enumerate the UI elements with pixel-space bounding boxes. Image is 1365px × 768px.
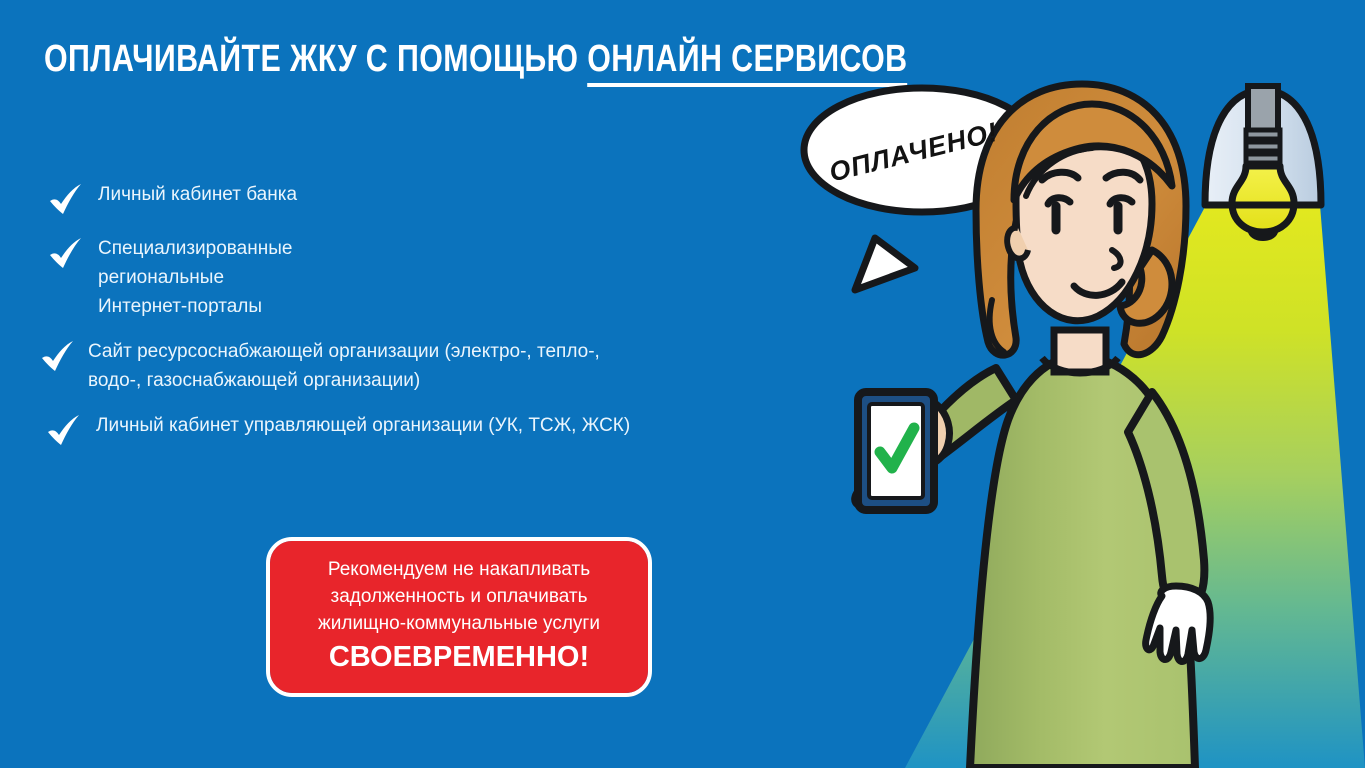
recommendation-callout: Рекомендуем не накапливать задолженность… [266,537,652,697]
check-icon [46,236,86,272]
list-item: Специализированные региональные Интернет… [46,234,796,321]
smartphone [858,392,934,510]
list-item-label: Личный кабинет банка [86,180,297,209]
callout-line: Рекомендуем не накапливать [328,556,590,583]
poster-canvas: ОПЛАЧИВАЙТЕ ЖКУ С ПОМОЩЬЮ ОНЛАЙН СЕРВИСО… [0,0,1365,768]
list-item-label: Личный кабинет управляющей организации (… [84,411,630,440]
woman-head [976,84,1186,355]
ceiling-lamp [1205,86,1321,238]
illustration-woman-with-phone [780,0,1365,768]
check-icon [44,413,84,449]
list-item: Личный кабинет банка [46,180,796,218]
list-item: Личный кабинет управляющей организации (… [44,411,796,449]
callout-emphasis: СВОЕВРЕМЕННО! [329,639,589,675]
callout-line: задолженность и оплачивать [331,583,588,610]
callout-line: жилищно-коммунальные услуги [318,610,600,637]
benefits-list: Личный кабинет банка Специализированные … [36,180,796,465]
list-item-label: Сайт ресурсоснабжающей организации (элек… [78,337,600,395]
page-title: ОПЛАЧИВАЙТЕ ЖКУ С ПОМОЩЬЮ ОНЛАЙН СЕРВИСО… [44,40,908,80]
check-icon [38,339,78,375]
title-lead: ОПЛАЧИВАЙТЕ ЖКУ С ПОМОЩЬЮ [44,38,587,80]
check-icon [46,182,86,218]
list-item: Сайт ресурсоснабжающей организации (элек… [38,337,796,395]
list-item-label: Специализированные региональные Интернет… [86,234,292,321]
callout-body: Рекомендуем не накапливать задолженность… [270,541,648,693]
